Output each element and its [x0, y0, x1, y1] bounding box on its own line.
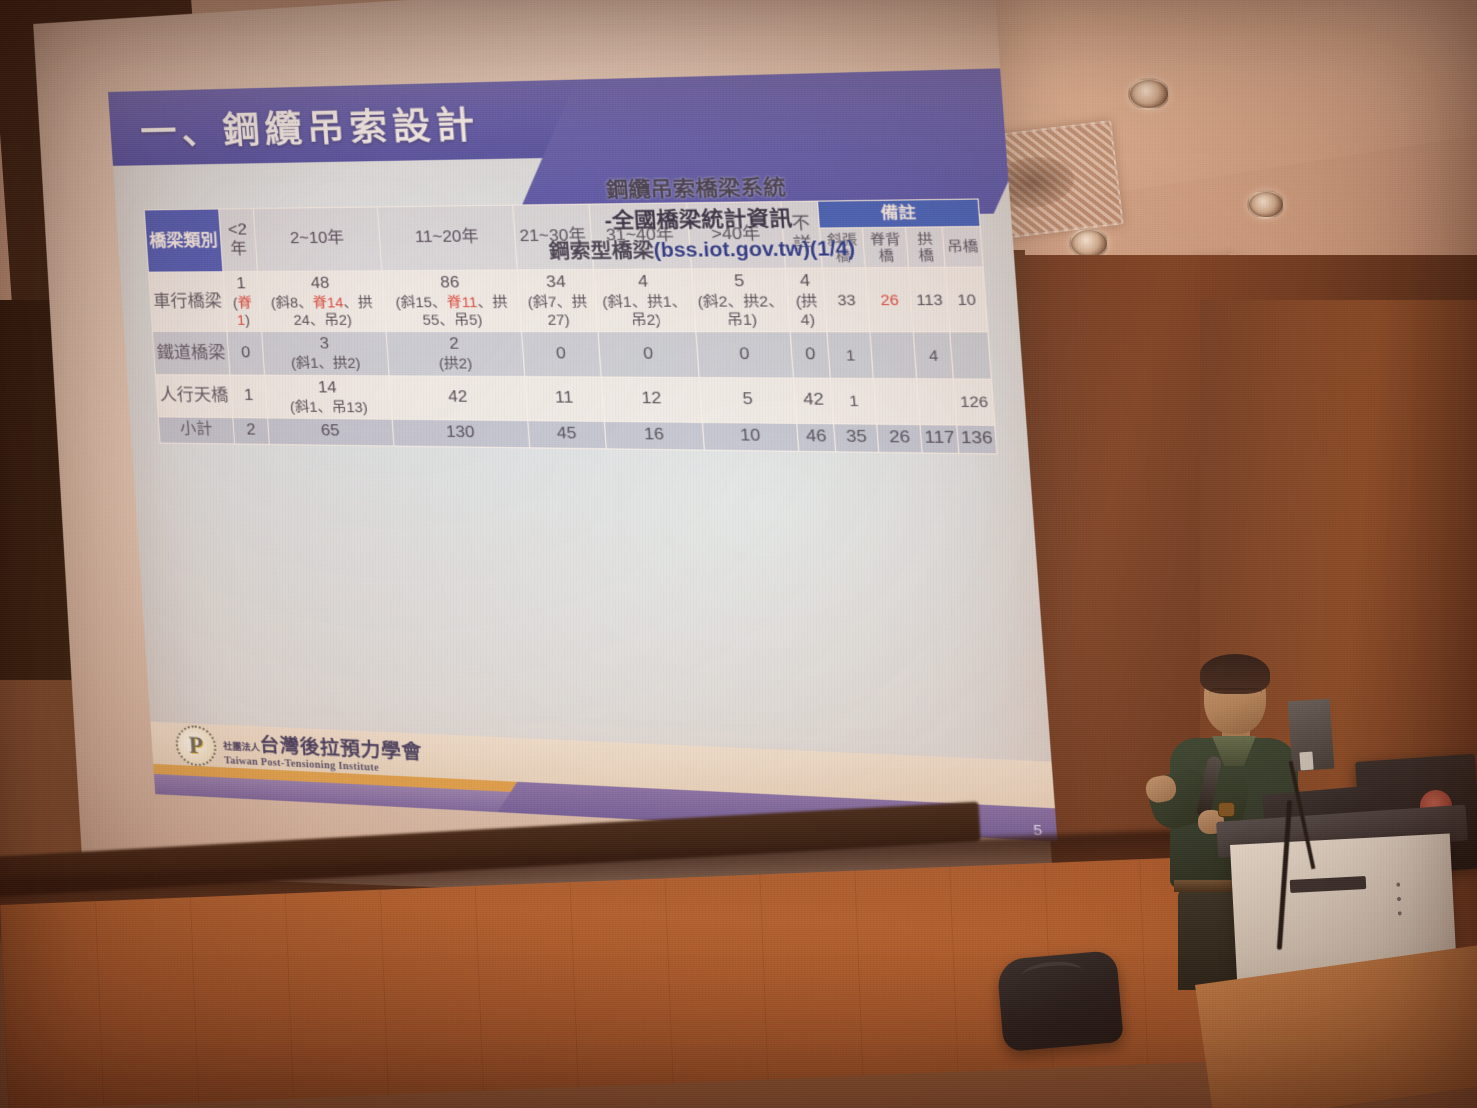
table-cell: 4(拱4): [785, 268, 827, 332]
table-cell: 46: [797, 423, 837, 451]
table-row: 鐵道橋梁03(斜1、拱2)2(拱2)000014: [152, 332, 991, 379]
highlighted-value: 26: [880, 291, 900, 308]
table-cell: 3(斜1、拱2): [262, 332, 389, 376]
cell-detail: (脊1): [227, 295, 259, 329]
table-cell: 1: [827, 332, 873, 378]
highlighted-value: 脊14: [312, 294, 344, 310]
subtitle-line-3-text: 鋼索型橋梁: [548, 240, 654, 263]
table-cell: 48(斜8、脊14、拱24、吊2): [258, 271, 386, 332]
conference-room-photo: 一、鋼纜吊索設計 鋼纜吊索橋梁系統 -全國橋梁統計資訊 鋼索型橋梁(bss.io…: [0, 0, 1477, 1108]
ceiling-downlight-icon: [1128, 78, 1170, 110]
table-cell: 65: [268, 418, 394, 446]
cell-detail: (拱4): [790, 293, 824, 329]
subtitle-source-url: (bss.iot.gov.tw)(1/4): [653, 238, 856, 262]
table-cell: 2(拱2): [386, 332, 525, 376]
tpi-logo-icon: P: [175, 725, 218, 767]
table-cell: 113: [909, 268, 950, 332]
table-cell: 0: [696, 332, 793, 378]
projection-screen: 一、鋼纜吊索設計 鋼纜吊索橋梁系統 -全國橋梁統計資訊 鋼索型橋梁(bss.io…: [0, 0, 1000, 940]
col-header-lt2y: <2年: [219, 209, 258, 273]
projected-slide: 一、鋼纜吊索設計 鋼纜吊索橋梁系統 -全國橋梁統計資訊 鋼索型橋梁(bss.io…: [108, 68, 1057, 841]
cell-detail: (斜8、脊14、拱24、吊2): [262, 294, 383, 328]
cell-detail: (斜15、脊11、拱55、吊5): [386, 294, 518, 329]
table-cell: 1(脊1): [223, 272, 262, 332]
table-cell: 26: [877, 424, 922, 453]
table-cell: 42: [793, 378, 834, 424]
row-header-0: 車行橋梁: [148, 272, 226, 332]
table-cell: [874, 378, 921, 425]
table-cell: 4(斜1、拱1、吊2): [593, 269, 696, 332]
table-corner-header: 橋梁類別: [144, 209, 223, 273]
table-cell: 1: [831, 378, 877, 424]
ceiling-downlight-icon: [1247, 190, 1285, 219]
table-cell: 5(斜2、拱2、吊1): [692, 269, 790, 332]
slide-title: 一、鋼纜吊索設計: [139, 95, 482, 156]
table-cell: 11: [525, 376, 604, 421]
table-cell: 0: [227, 332, 265, 375]
cell-detail: (斜1、拱2): [266, 354, 386, 371]
table-row: 車行橋梁1(脊1)48(斜8、脊14、拱24、吊2)86(斜15、脊11、拱55…: [148, 267, 987, 332]
table-cell: 0: [790, 332, 831, 378]
table-cell: 86(斜15、脊11、拱55、吊5): [382, 270, 522, 332]
cell-detail: (斜2、拱2、吊1): [696, 293, 787, 329]
subtitle-line-3: 鋼索型橋梁(bss.iot.gov.tw)(1/4): [426, 234, 991, 268]
cell-detail: (拱2): [390, 355, 521, 373]
table-cell: 42: [389, 376, 528, 421]
table-cell: 5: [699, 377, 796, 423]
org-prefix-zh: 社團法人: [223, 741, 260, 753]
table-cell: 4: [914, 332, 954, 378]
table-cell: 35: [834, 424, 879, 453]
table-cell: 33: [823, 268, 871, 332]
table-cell: 1: [230, 375, 268, 418]
row-header-2: 人行天橋: [155, 374, 232, 417]
table-cell: [870, 332, 917, 378]
row-header-3: 小計: [158, 417, 234, 444]
col-header-2to10y: 2~10年: [253, 207, 382, 272]
table-cell: 10: [703, 422, 799, 451]
table-cell: 16: [604, 421, 705, 450]
row-header-1: 鐵道橋梁: [152, 332, 229, 375]
table-cell: 0: [521, 332, 600, 377]
cell-detail: (斜7、拱27): [522, 293, 595, 328]
logo-letter: P: [188, 732, 204, 759]
table-cell: 45: [528, 421, 606, 449]
table-cell: 26: [866, 268, 914, 332]
slide-subtitle: 鋼纜吊索橋梁系統 -全國橋梁統計資訊 鋼索型橋梁(bss.iot.gov.tw)…: [421, 170, 990, 268]
table-cell: 14(斜1、吊13): [265, 375, 392, 419]
cell-detail: (斜1、拱1、吊2): [598, 293, 693, 328]
table-cell: 10: [945, 267, 988, 332]
table-cell: 130: [392, 419, 530, 447]
table-cell: 2: [233, 418, 270, 445]
table-cell: [917, 378, 957, 425]
wristwatch-icon: [1218, 802, 1235, 817]
wall-switch-icon: [1299, 752, 1313, 771]
table-cell: 126: [954, 379, 995, 426]
table-body: 車行橋梁1(脊1)48(斜8、脊14、拱24、吊2)86(斜15、脊11、拱55…: [148, 267, 996, 453]
table-cell: 34(斜7、拱27): [517, 270, 598, 332]
highlighted-value: 脊1: [237, 295, 253, 328]
glasses-icon: [1210, 688, 1262, 699]
cell-detail: (斜1、吊13): [269, 398, 389, 416]
table-cell: 0: [598, 332, 700, 377]
highlighted-value: 脊11: [446, 294, 478, 311]
table-cell: [950, 332, 991, 379]
table-cell: 117: [920, 425, 959, 454]
subtitle-line-2: -全國橋梁統計資訊: [423, 202, 988, 239]
table-cell: 136: [957, 425, 997, 454]
table-cell: 12: [601, 377, 703, 423]
